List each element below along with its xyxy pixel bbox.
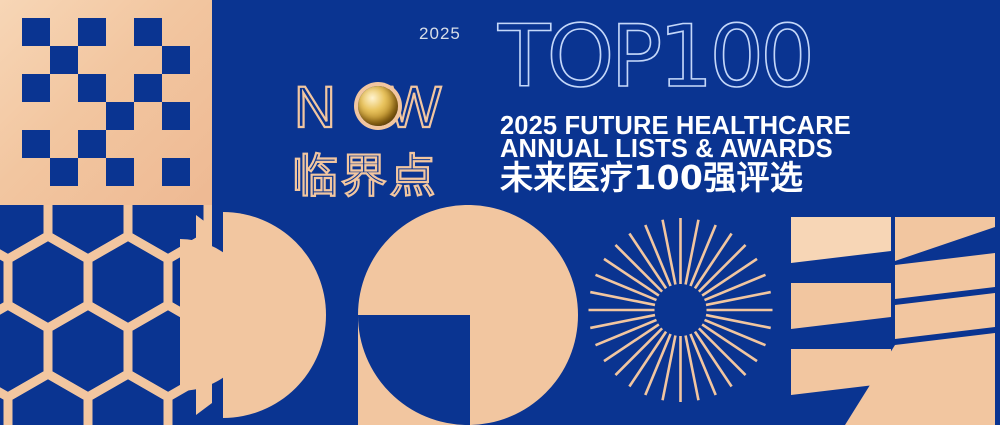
starburst-ray — [590, 315, 655, 328]
checker-cell — [22, 130, 50, 158]
checker-cell — [78, 130, 106, 158]
checker-cell — [50, 158, 78, 186]
starburst-ray — [686, 336, 699, 401]
checkerboard-pattern — [0, 0, 212, 205]
stripe-column-left — [791, 217, 891, 395]
top100-headline: TOP100 — [498, 18, 811, 97]
the-now-logo: THE 2025 N W 临界点 — [288, 18, 488, 188]
checker-cell — [134, 74, 162, 102]
starburst-ray — [706, 292, 771, 305]
gold-sphere-icon — [358, 86, 398, 126]
checker-cell — [162, 102, 190, 130]
checker-cell — [50, 46, 78, 74]
starburst-ray — [706, 315, 771, 328]
diagonal-stripes-pattern — [785, 205, 1000, 425]
checker-cell — [134, 18, 162, 46]
checker-cell — [106, 158, 134, 186]
starburst-ray — [590, 292, 655, 305]
starburst-ray — [663, 220, 676, 285]
subtitle-chinese: 未来医疗100强评选 — [500, 161, 803, 194]
large-circle-with-notch — [358, 205, 578, 425]
circle-shapes-group — [180, 205, 600, 425]
checker-cell — [78, 18, 106, 46]
decorative-bottom-band — [0, 205, 1000, 425]
checker-cell — [22, 74, 50, 102]
checker-cell — [78, 74, 106, 102]
award-title-block: TOP100 2025 FUTURE HEALTHCARE ANNUAL LIS… — [498, 18, 848, 193]
checker-cell — [106, 102, 134, 130]
starburst-ray — [663, 336, 676, 401]
checker-cell — [22, 18, 50, 46]
starburst-ray — [686, 220, 699, 285]
award-banner: THE 2025 N W 临界点 TOP100 2025 FUTURE HEAL… — [0, 0, 1000, 425]
checker-cell — [162, 46, 190, 74]
checker-cell — [162, 158, 190, 186]
starburst-icon — [588, 210, 773, 410]
logo-chinese-text: 临界点 — [292, 140, 438, 206]
logo-year-text: 2025 — [419, 24, 461, 44]
half-circle-right — [223, 212, 326, 418]
